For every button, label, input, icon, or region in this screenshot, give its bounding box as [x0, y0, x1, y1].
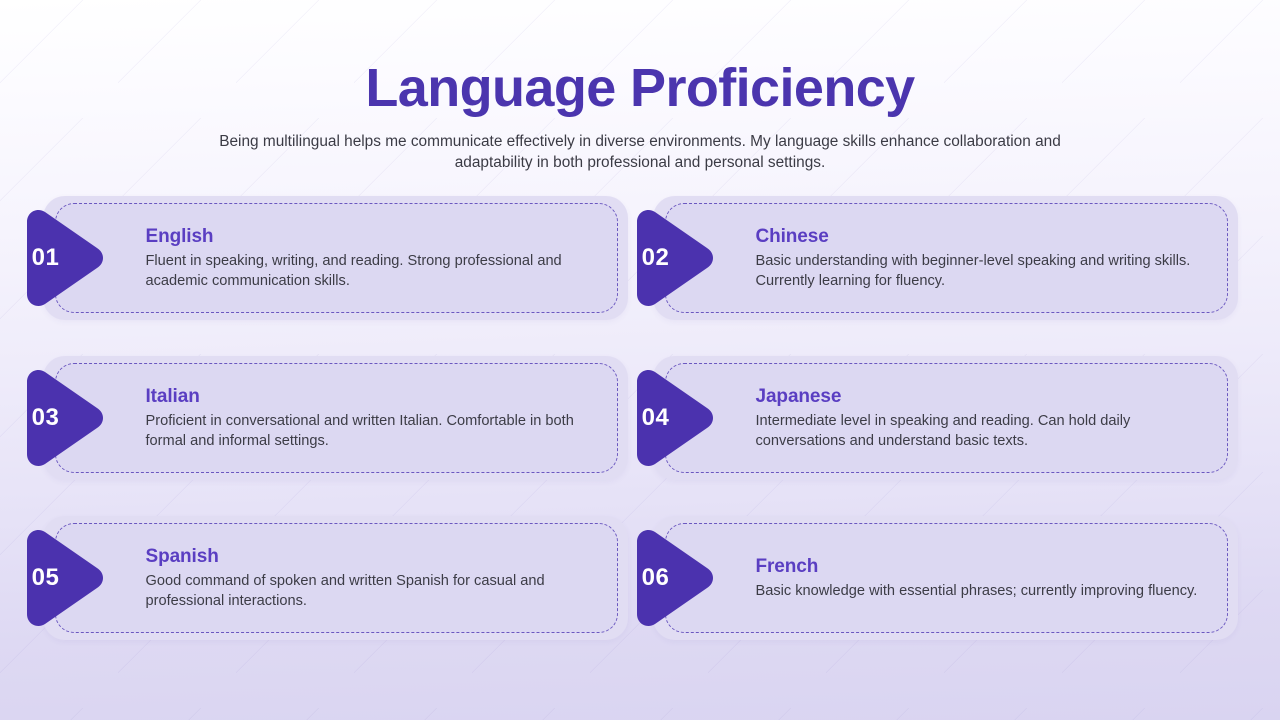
card-text-block: Italian Proficient in conversational and…	[146, 385, 602, 451]
slide-canvas: Language Proficiency Being multilingual …	[0, 0, 1280, 720]
card-description: Basic knowledge with essential phrases; …	[756, 582, 1212, 602]
card-description: Proficient in conversational and written…	[146, 412, 602, 451]
play-arrow-badge-icon: 04	[623, 370, 713, 466]
card-number: 01	[13, 210, 79, 306]
card-text-block: English Fluent in speaking, writing, and…	[146, 225, 602, 291]
page-title: Language Proficiency	[0, 57, 1280, 119]
page-subtitle: Being multilingual helps me communicate …	[200, 132, 1080, 173]
card-text-block: Spanish Good command of spoken and writt…	[146, 545, 602, 611]
play-arrow-badge-icon: 06	[623, 530, 713, 626]
play-arrow-badge-icon: 01	[13, 210, 103, 306]
card-title: Italian	[146, 385, 602, 409]
language-card[interactable]: 06 French Basic knowledge with essential…	[653, 516, 1238, 640]
card-description: Intermediate level in speaking and readi…	[756, 412, 1212, 451]
card-number: 04	[623, 370, 689, 466]
language-card[interactable]: 02 Chinese Basic understanding with begi…	[653, 196, 1238, 320]
card-text-block: Chinese Basic understanding with beginne…	[756, 225, 1212, 291]
language-card[interactable]: 01 English Fluent in speaking, writing, …	[43, 196, 628, 320]
card-description: Basic understanding with beginner-level …	[756, 252, 1212, 291]
language-card-grid: 01 English Fluent in speaking, writing, …	[0, 196, 1280, 640]
card-description: Good command of spoken and written Spani…	[146, 572, 602, 611]
language-card[interactable]: 05 Spanish Good command of spoken and wr…	[43, 516, 628, 640]
card-title: Spanish	[146, 545, 602, 569]
card-description: Fluent in speaking, writing, and reading…	[146, 252, 602, 291]
card-text-block: Japanese Intermediate level in speaking …	[756, 385, 1212, 451]
card-title: English	[146, 225, 602, 249]
language-card[interactable]: 03 Italian Proficient in conversational …	[43, 356, 628, 480]
play-arrow-badge-icon: 02	[623, 210, 713, 306]
play-arrow-badge-icon: 03	[13, 370, 103, 466]
card-text-block: French Basic knowledge with essential ph…	[756, 555, 1212, 602]
card-number: 05	[13, 530, 79, 626]
card-title: Japanese	[756, 385, 1212, 409]
language-card[interactable]: 04 Japanese Intermediate level in speaki…	[653, 356, 1238, 480]
play-arrow-badge-icon: 05	[13, 530, 103, 626]
card-number: 03	[13, 370, 79, 466]
card-title: French	[756, 555, 1212, 579]
card-number: 02	[623, 210, 689, 306]
card-number: 06	[623, 530, 689, 626]
slide-header: Language Proficiency Being multilingual …	[0, 0, 1280, 173]
card-title: Chinese	[756, 225, 1212, 249]
